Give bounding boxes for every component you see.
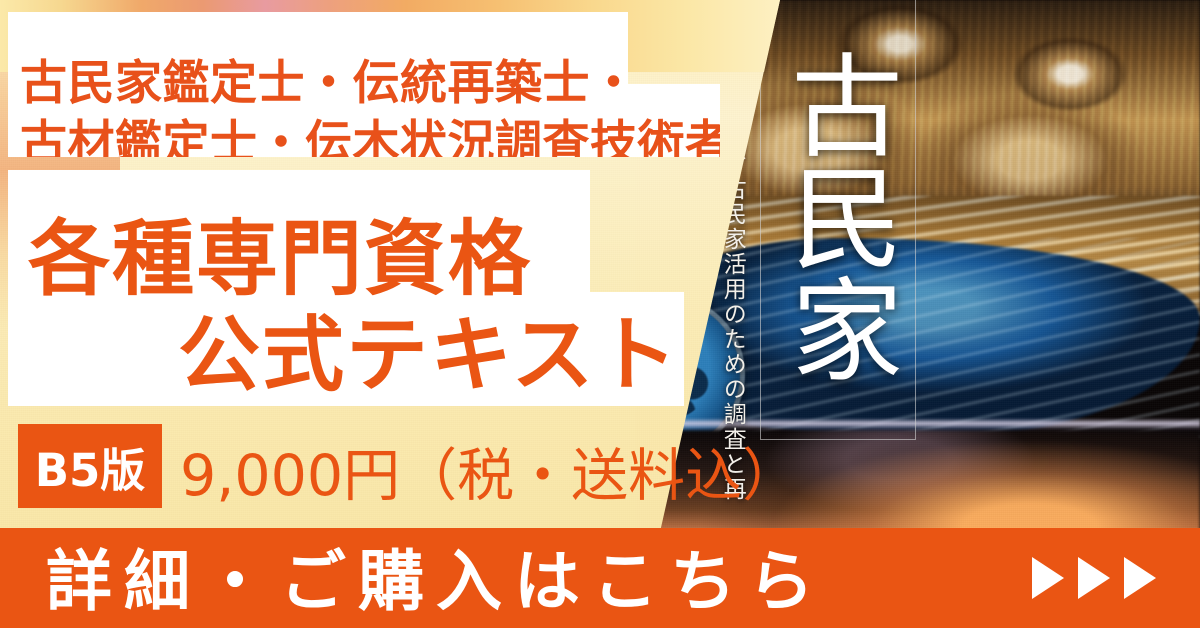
headline-line-1: 古民家鑑定士・伝統再築士・ [20, 44, 638, 113]
chevron-right-icon [1032, 557, 1064, 599]
book-cover-title: 古民家 [768, 6, 908, 426]
chevron-right-icon [1124, 557, 1156, 599]
headline-card: 古民家鑑定士・伝統再築士・ 古材鑑定士・伝木状況調査技術者 [8, 12, 720, 157]
promo-banner: 古民家 伝統構法、古民家活用のための調査と再生の 古民家鑑定士・伝統再築士・ 古… [0, 0, 1200, 628]
format-badge: B5版 [18, 424, 162, 508]
chevron-right-icon [1078, 557, 1110, 599]
main-title-card: 各種専門資格 公式テキスト [8, 170, 684, 406]
cta-bar[interactable]: 詳細・ご購入はこちら [0, 528, 1200, 628]
format-badge-label: B5版 [35, 434, 146, 499]
main-title-line-2: 公式テキスト [178, 288, 680, 407]
price-text: 9,000円（税・送料込） [180, 430, 799, 512]
cta-label: 詳細・ご購入はこちら [46, 528, 826, 624]
cta-arrows [1032, 557, 1156, 599]
